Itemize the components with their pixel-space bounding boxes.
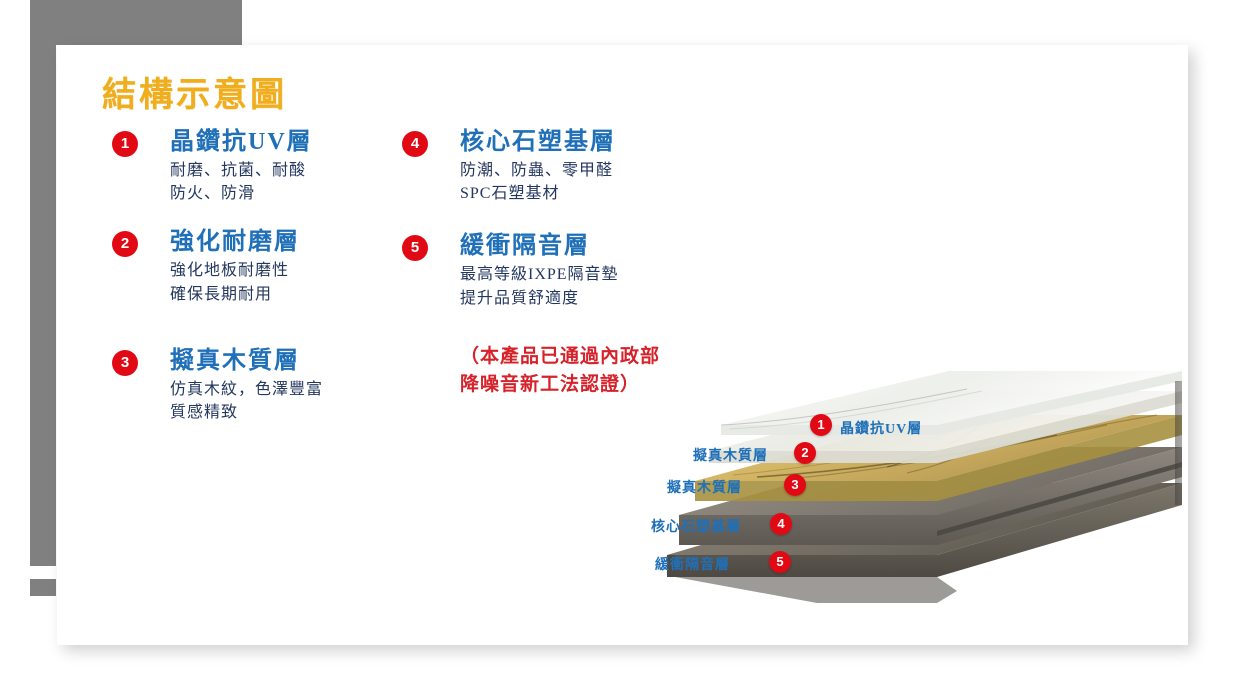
feature-item-5: 5 緩衝隔音層 最高等級IXPE隔音墊 提升品質舒適度 xyxy=(402,231,702,309)
diagram-label-2: 擬真木質層 xyxy=(693,445,768,465)
feature-desc-3-line2: 質感精致 xyxy=(170,401,412,424)
feature-column-left: 1 晶鑽抗UV層 耐磨、抗菌、耐酸 防火、防滑 2 強化耐磨層 強化地板耐磨性 … xyxy=(112,127,412,438)
diagram-label-1: 晶鑽抗UV層 xyxy=(840,418,922,438)
certification-note-line1: （本產品已通過內政部 xyxy=(460,343,660,371)
decorative-frame-top-bar xyxy=(30,0,242,45)
feature-heading-2: 強化耐磨層 xyxy=(170,227,412,257)
feature-desc-2-line1: 強化地板耐磨性 xyxy=(170,259,412,282)
feature-badge-1: 1 xyxy=(112,131,138,157)
feature-badge-3: 3 xyxy=(112,350,138,376)
decorative-frame-accent-block xyxy=(30,579,56,596)
diagram-label-5: 緩衝隔音層 xyxy=(655,554,730,574)
diagram-badge-5: 5 xyxy=(769,551,791,573)
page-title: 結構示意圖 xyxy=(102,67,287,116)
feature-desc-5-line1: 最高等級IXPE隔音墊 xyxy=(460,263,702,286)
feature-item-3: 3 擬真木質層 仿真木紋，色澤豐富 質感精致 xyxy=(112,346,412,424)
feature-heading-3: 擬真木質層 xyxy=(170,346,412,376)
feature-item-4: 4 核心石塑基層 防潮、防蟲、零甲醛 SPC石塑基材 xyxy=(402,127,702,205)
diagram-badge-4: 4 xyxy=(770,513,792,535)
feature-item-2: 2 強化耐磨層 強化地板耐磨性 確保長期耐用 xyxy=(112,227,412,305)
feature-desc-2-line2: 確保長期耐用 xyxy=(170,283,412,306)
feature-heading-1: 晶鑽抗UV層 xyxy=(170,127,412,157)
feature-desc-1-line2: 防火、防滑 xyxy=(170,182,412,205)
diagram-badge-2: 2 xyxy=(794,442,816,464)
feature-desc-5-line2: 提升品質舒適度 xyxy=(460,287,702,310)
feature-desc-4-line1: 防潮、防蟲、零甲醛 xyxy=(460,159,702,182)
content-card: 結構示意圖 1 晶鑽抗UV層 耐磨、抗菌、耐酸 防火、防滑 2 強化耐磨層 強化… xyxy=(57,45,1188,645)
feature-desc-3-line1: 仿真木紋，色澤豐富 xyxy=(170,378,412,401)
feature-badge-5: 5 xyxy=(402,235,428,261)
diagram-label-4: 核心石塑基層 xyxy=(651,516,741,536)
feature-desc-1-line1: 耐磨、抗菌、耐酸 xyxy=(170,159,412,182)
feature-item-1: 1 晶鑽抗UV層 耐磨、抗菌、耐酸 防火、防滑 xyxy=(112,127,412,205)
diagram-label-3: 擬真木質層 xyxy=(667,477,742,497)
diagram-badge-3: 3 xyxy=(784,474,806,496)
certification-note: （本產品已通過內政部 降噪音新工法認證） xyxy=(460,343,660,398)
feature-column-right: 4 核心石塑基層 防潮、防蟲、零甲醛 SPC石塑基材 5 緩衝隔音層 最高等級I… xyxy=(402,127,702,332)
feature-badge-4: 4 xyxy=(402,131,428,157)
feature-desc-4-line2: SPC石塑基材 xyxy=(460,182,702,205)
decorative-frame-left-bar xyxy=(30,45,56,566)
feature-badge-2: 2 xyxy=(112,231,138,257)
feature-heading-4: 核心石塑基層 xyxy=(460,127,702,157)
diagram-badge-1: 1 xyxy=(810,414,832,436)
certification-note-line2: 降噪音新工法認證） xyxy=(460,371,660,399)
feature-heading-5: 緩衝隔音層 xyxy=(460,231,702,261)
